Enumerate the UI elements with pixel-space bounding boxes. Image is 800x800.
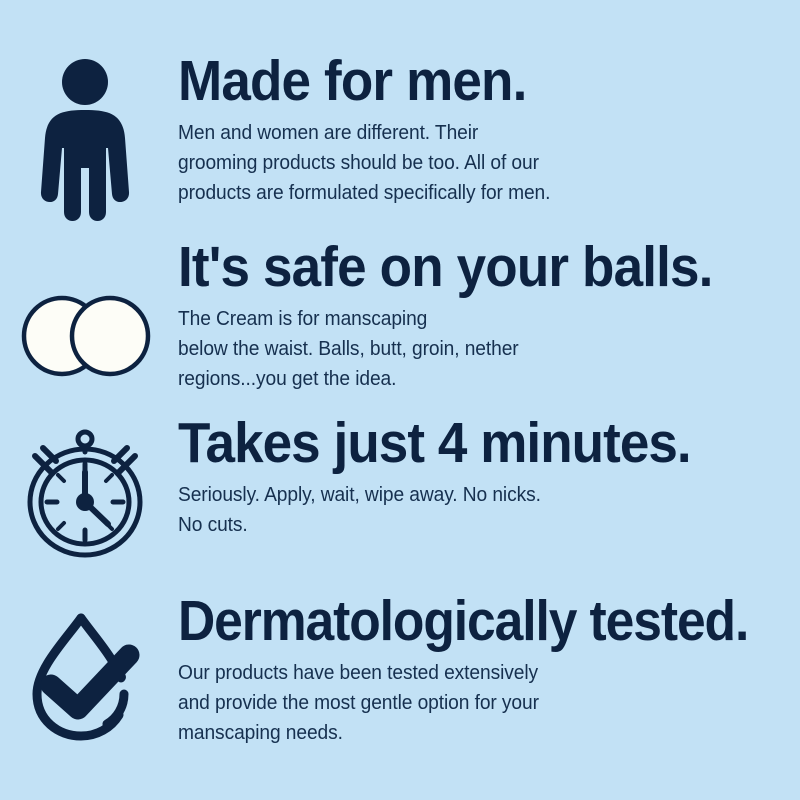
feature-title: It's safe on your balls. <box>178 238 756 296</box>
droplet-check-icon <box>15 606 155 746</box>
body-line: manscaping needs. <box>178 718 775 748</box>
body-line: Men and women are different. Their <box>178 118 775 148</box>
two-circles-icon <box>15 280 155 390</box>
feature-icon-cell <box>0 424 170 564</box>
feature-body: The Cream is for manscaping below the wa… <box>178 304 775 394</box>
feature-text-cell: Dermatologically tested. Our products ha… <box>178 592 800 748</box>
feature-body: Men and women are different. Their groom… <box>178 118 775 208</box>
feature-title: Takes just 4 minutes. <box>178 414 756 472</box>
feature-text-cell: Made for men. Men and women are differen… <box>178 52 800 208</box>
body-line: Our products have been tested extensivel… <box>178 658 775 688</box>
feature-body: Our products have been tested extensivel… <box>178 658 775 748</box>
feature-title: Made for men. <box>178 52 756 110</box>
body-line: and provide the most gentle option for y… <box>178 688 775 718</box>
feature-text-cell: It's safe on your balls. The Cream is fo… <box>178 238 800 394</box>
body-line: Seriously. Apply, wait, wipe away. No ni… <box>178 480 775 510</box>
feature-icon-cell <box>0 606 170 746</box>
feature-title: Dermatologically tested. <box>178 592 741 650</box>
body-line: grooming products should be too. All of … <box>178 148 775 178</box>
body-line: No cuts. <box>178 510 775 540</box>
person-icon <box>31 58 139 228</box>
feature-body: Seriously. Apply, wait, wipe away. No ni… <box>178 480 775 540</box>
feature-text-cell: Takes just 4 minutes. Seriously. Apply, … <box>178 414 800 540</box>
body-line: The Cream is for manscaping <box>178 304 775 334</box>
feature-icon-cell <box>0 280 170 390</box>
body-line: below the waist. Balls, butt, groin, net… <box>178 334 775 364</box>
benefits-infographic: Made for men. Men and women are differen… <box>0 0 800 800</box>
feature-icon-cell <box>0 58 170 228</box>
body-line: regions...you get the idea. <box>178 364 775 394</box>
stopwatch-icon <box>15 424 155 564</box>
body-line: products are formulated specifically for… <box>178 178 775 208</box>
